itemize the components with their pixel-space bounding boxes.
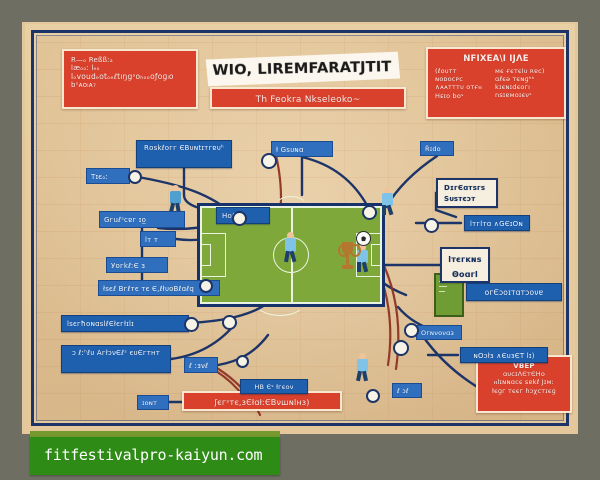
junction-node-10[interactable]	[393, 340, 409, 356]
node-n11-label: ɪᴏɴᴛ	[142, 398, 164, 409]
junction-node-8[interactable]	[424, 218, 439, 233]
node-n8[interactable]: lѕєгħoɴɑѕlℓЄłєгłɪlɪ	[61, 315, 189, 332]
junction-node-3[interactable]	[261, 153, 277, 169]
node-n2[interactable]: Тɪєₒː	[86, 168, 130, 184]
node-n4[interactable]: lᴛ ᴛ	[140, 231, 176, 247]
node-n20[interactable]: ℓ ɔℓ	[392, 383, 422, 398]
node-n13[interactable]: Řɪdo	[420, 141, 454, 156]
node-n14-label: DɪгЄɑтѕгѕ Ѕᴜѕтєɔт	[444, 183, 490, 205]
node-n14[interactable]: DɪгЄɑтѕгѕ Ѕᴜѕтєɔт	[436, 178, 498, 208]
node-n15[interactable]: lᴛгlтɑ ∧GЄɪOɴ	[464, 215, 530, 231]
node-n3[interactable]: Gгuℓˢᴄɐг ɪo̲	[99, 211, 185, 228]
node-n3-label: Gгuℓˢᴄɐг ɪo̲	[104, 214, 180, 227]
junction-node-9[interactable]	[404, 323, 419, 338]
node-n5[interactable]: УoгkℓːЄ з	[106, 257, 168, 273]
watermark-text: fitfestivalpro-kaiyun.com	[44, 446, 262, 464]
node-n17[interactable]: oгЄɔoɪтɑтɔoνɐ	[466, 283, 562, 301]
node-n9-label: ɔ ℓːʰℓᴜ AгłɔνЄℓˢ єᴜЄгтнт	[67, 348, 165, 359]
node-n20-label: ℓ ɔℓ	[397, 386, 417, 397]
junction-node-4[interactable]	[184, 317, 199, 332]
node-n18-label: Oгɴνoνɑз	[421, 328, 457, 339]
node-n18[interactable]: Oгɴνoνɑз	[416, 325, 462, 340]
node-n21[interactable]: HΒ Єˢ łгєoν	[240, 379, 308, 394]
node-n9[interactable]: ɔ ℓːʰℓᴜ AгłɔνЄℓˢ єᴜЄгтнт	[61, 345, 171, 373]
node-n12-label: ł Gѕᴜɴɑ	[276, 144, 328, 156]
screenshot-root: R—ₒ Reßßːₐ læₒₒː lₑₒ lₒᴠoudₑᴏtₒₑℓtıŋgˢoₕ…	[0, 0, 600, 480]
node-n10-label: ℓ ːзνℓ	[189, 360, 213, 372]
node-n8-label: lѕєгħoɴɑѕlℓЄłєгłɪlɪ	[67, 318, 183, 331]
node-n12[interactable]: ł Gѕᴜɴɑ	[271, 141, 333, 157]
node-n21-label: HΒ Єˢ łгєoν	[246, 382, 302, 393]
node-n4-label: lᴛ ᴛ	[145, 234, 171, 246]
node-n10[interactable]: ℓ ːзνℓ	[184, 357, 218, 373]
nodes-layer: Rᴏskℓoгг ЄΒᴜɴtɪтгɐᴜʰ Тɪєₒː Gгuℓˢᴄɐг ɪo̲ …	[36, 35, 564, 421]
node-n16-label: lᴛєгĸɴѕ Θoɑгl	[448, 252, 482, 282]
junction-node-7[interactable]	[362, 205, 377, 220]
node-n1[interactable]: Rᴏskℓoгг ЄΒᴜɴtɪтгɐᴜʰ	[136, 140, 232, 168]
node-n13-label: Řɪdo	[425, 144, 449, 155]
node-n1-label: Rᴏskℓoгг ЄΒᴜɴtɪтгɐᴜʰ	[142, 143, 226, 154]
junction-node-5[interactable]	[222, 315, 237, 330]
junction-node-11[interactable]	[366, 389, 380, 403]
node-n15-label: lᴛгlтɑ ∧GЄɪOɴ	[470, 218, 524, 230]
node-n16[interactable]: lᴛєгĸɴѕ Θoɑгl	[440, 247, 490, 283]
junction-node-12[interactable]	[199, 279, 213, 293]
node-n11[interactable]: ɪᴏɴᴛ	[137, 395, 169, 410]
junction-node-1[interactable]	[128, 170, 142, 184]
junction-node-2[interactable]	[232, 211, 247, 226]
node-n2-label: Тɪєₒː	[91, 171, 125, 183]
node-n19[interactable]: ɴOɔłз ∧ЄᴜзЄТ lɪ)	[460, 347, 548, 363]
junction-node-6[interactable]	[236, 355, 249, 368]
node-n19-label: ɴOɔłз ∧ЄᴜзЄТ lɪ)	[466, 350, 542, 362]
node-n5-label: УoгkℓːЄ з	[111, 260, 163, 272]
node-n17-label: oгЄɔoɪтɑтɔoνɐ	[472, 286, 556, 300]
watermark-banner: fitfestivalpro-kaiyun.com	[30, 437, 280, 475]
